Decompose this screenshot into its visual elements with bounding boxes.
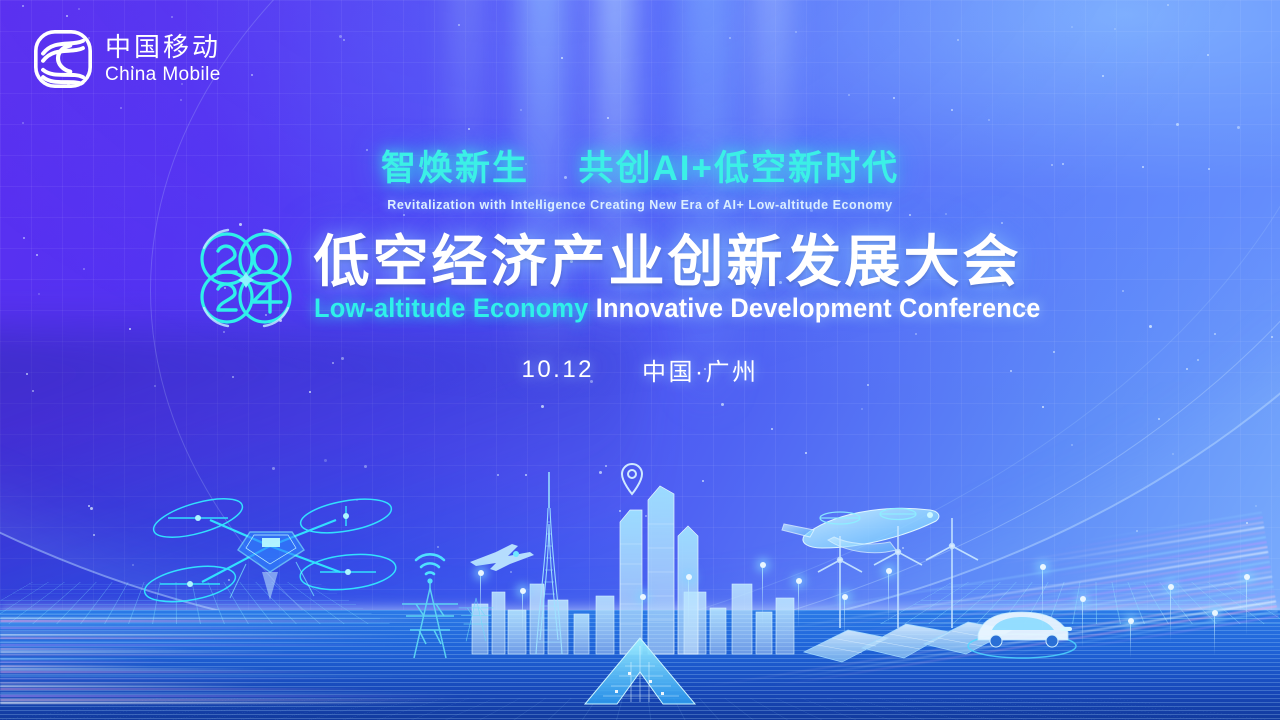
light-streak	[992, 521, 1264, 566]
star	[1172, 453, 1174, 455]
star	[1176, 123, 1179, 126]
light-streak	[843, 571, 1271, 641]
star	[702, 480, 704, 482]
star	[893, 97, 895, 99]
left-light-streaks	[0, 613, 560, 708]
light-streak	[1018, 526, 1265, 567]
node-stem	[762, 568, 763, 626]
star	[795, 31, 797, 33]
node-stem	[1214, 616, 1215, 656]
airplane-icon	[466, 540, 536, 574]
star	[458, 24, 460, 26]
star	[1071, 26, 1073, 28]
power-pylon-group	[388, 530, 518, 660]
star	[729, 37, 731, 39]
light-streak	[766, 605, 1277, 688]
light-streak	[0, 637, 402, 639]
event-meta: 10.12 中国·广州	[0, 352, 1280, 387]
light-streak	[0, 699, 481, 701]
glow-node	[1080, 596, 1086, 602]
light-streak	[1043, 541, 1267, 578]
node-stem	[1170, 590, 1171, 642]
star	[22, 122, 24, 124]
glow-node	[1040, 564, 1046, 570]
star	[645, 515, 647, 517]
conference-poster: 中国移动 China Mobile 智焕新生 共创AI+低空新时代 Revita…	[0, 0, 1280, 720]
light-streak	[0, 648, 197, 650]
star	[861, 408, 863, 410]
light-streak	[0, 651, 294, 653]
star	[1158, 418, 1160, 420]
light-streak	[0, 627, 397, 629]
light-streak	[0, 631, 369, 633]
star	[66, 15, 68, 17]
star	[951, 109, 953, 111]
glow-node	[640, 594, 646, 600]
node-stem	[1082, 602, 1083, 648]
light-streak	[1073, 590, 1275, 624]
ground-plane	[0, 610, 1280, 720]
star	[1237, 126, 1240, 129]
star	[1246, 522, 1248, 524]
star	[343, 39, 345, 41]
tagline-en: Revitalization with Intelligence Creatin…	[0, 198, 1280, 212]
light-streak	[0, 620, 443, 622]
glow-node	[1244, 574, 1250, 580]
star	[1136, 530, 1138, 532]
left-terrain-mesh	[0, 582, 390, 624]
ground-scanlines	[0, 610, 1280, 720]
ground-perspective-mesh	[0, 698, 1280, 720]
node-stem	[844, 600, 845, 638]
star	[605, 465, 607, 467]
light-streak	[889, 581, 1274, 644]
light-streak	[0, 617, 470, 619]
brand-logo: 中国移动 China Mobile	[34, 30, 221, 88]
glow-node	[686, 574, 692, 580]
light-streak	[991, 576, 1273, 623]
star	[561, 57, 563, 59]
star	[132, 564, 134, 566]
node-stem	[1130, 624, 1131, 658]
star	[88, 505, 90, 507]
node-stem	[480, 576, 481, 628]
light-streak	[0, 634, 415, 636]
star	[324, 459, 327, 462]
subtitle-highlight: Low-altitude Economy	[314, 293, 588, 323]
star	[520, 109, 522, 111]
star	[251, 74, 253, 76]
light-streak	[0, 675, 478, 677]
wind-turbine-icon	[874, 526, 922, 628]
city-skyline	[470, 464, 800, 654]
wind-turbine-icon	[818, 536, 862, 628]
light-streak	[0, 624, 308, 626]
light-streak	[0, 678, 413, 680]
light-streak	[0, 702, 453, 704]
star	[180, 99, 182, 101]
brand-name-en: China Mobile	[105, 65, 221, 84]
light-streak	[1007, 531, 1266, 574]
star	[32, 390, 34, 392]
star	[1114, 28, 1116, 30]
glow-node	[1128, 618, 1134, 624]
brand-name-cn: 中国移动	[105, 34, 221, 60]
solar-panel-icon	[862, 624, 950, 658]
light-streak	[730, 536, 1266, 623]
wind-turbine-icon	[926, 518, 978, 628]
power-pylon-icon	[402, 580, 458, 658]
wind-turbine-group	[812, 526, 992, 636]
node-stem	[688, 580, 689, 628]
power-pylon-icon	[459, 598, 494, 641]
light-streak	[0, 685, 254, 687]
horizon-glow	[0, 602, 1280, 642]
glow-node	[478, 570, 484, 576]
star	[988, 119, 990, 121]
light-streak	[964, 610, 1278, 662]
star	[510, 571, 512, 573]
light-streak	[1072, 546, 1268, 579]
star	[171, 16, 173, 18]
canton-tower-icon	[536, 472, 562, 654]
light-streak	[1065, 511, 1262, 544]
solar-panel-group	[800, 594, 1020, 664]
star	[805, 452, 807, 454]
light-streak	[1037, 615, 1279, 655]
smart-car-icon	[960, 590, 1090, 660]
glow-node	[1212, 610, 1218, 616]
background-shade	[0, 330, 640, 710]
star	[721, 403, 724, 406]
light-streak	[771, 600, 1276, 682]
node-stem	[522, 594, 523, 634]
tagline-cn-right: 共创AI+低空新时代	[579, 149, 899, 188]
subtitle-rest: Innovative Development Conference	[595, 293, 1040, 323]
quadcopter-drone-icon	[150, 480, 400, 630]
star	[902, 547, 904, 549]
evtol-aircraft-icon	[770, 490, 970, 580]
star	[22, 5, 24, 7]
event-date: 10.12	[521, 356, 594, 384]
light-streak	[985, 561, 1270, 608]
star	[1255, 505, 1257, 507]
title-row: 低空经济产业创新发展大会 Low-altitude Economy Innova…	[0, 224, 1280, 330]
node-stem	[642, 600, 643, 636]
light-streak	[0, 682, 293, 684]
solar-panel-icon	[804, 630, 888, 662]
light-streak	[0, 661, 195, 663]
star	[771, 428, 773, 430]
headline-block: 智焕新生 共创AI+低空新时代 Revitalization with Inte…	[0, 140, 1280, 387]
star	[1207, 54, 1209, 56]
light-streak	[0, 654, 482, 656]
light-streak	[835, 566, 1271, 637]
ai-circuit-road-icon	[545, 632, 735, 712]
right-light-streaks	[649, 505, 1280, 720]
node-stem	[888, 574, 889, 624]
star	[78, 8, 80, 10]
star	[228, 579, 230, 581]
star	[364, 465, 367, 468]
year-2024-rotor-icon	[194, 226, 298, 330]
star	[437, 546, 439, 548]
star	[339, 35, 342, 38]
star	[120, 107, 122, 109]
star	[1042, 406, 1044, 408]
light-streak	[0, 665, 154, 667]
star	[848, 94, 850, 96]
light-streak	[1047, 516, 1263, 552]
star	[468, 128, 470, 130]
node-stem	[798, 584, 799, 628]
light-streak	[685, 595, 1276, 690]
glow-node	[520, 588, 526, 594]
event-location: 中国·广州	[642, 352, 759, 387]
page-title: 低空经济产业创新发展大会	[314, 232, 1022, 291]
light-streak	[0, 644, 410, 646]
node-stem	[1042, 570, 1043, 630]
star	[957, 39, 959, 41]
star	[607, 117, 609, 119]
light-streak	[0, 671, 353, 673]
light-streak	[0, 658, 156, 660]
china-mobile-logo-icon	[34, 30, 92, 88]
star	[1167, 4, 1169, 6]
map-pin-icon	[622, 464, 642, 494]
solar-panel-icon	[924, 622, 1012, 654]
wifi-signal-icon	[416, 554, 444, 583]
page-subtitle: Low-altitude Economy Innovative Developm…	[314, 294, 1041, 322]
right-terrain-mesh	[880, 582, 1280, 624]
glow-node	[886, 568, 892, 574]
light-streak	[0, 668, 273, 670]
star	[541, 405, 544, 408]
glow-node	[796, 578, 802, 584]
node-stem	[1246, 580, 1247, 636]
star	[1071, 444, 1073, 446]
glow-node	[760, 562, 766, 568]
star	[309, 391, 311, 393]
light-streak	[0, 692, 487, 694]
star	[93, 534, 95, 536]
star	[619, 510, 621, 512]
tagline-cn: 智焕新生 共创AI+低空新时代	[0, 140, 1280, 191]
star	[599, 471, 602, 474]
glow-node	[1168, 584, 1174, 590]
star	[90, 507, 93, 510]
light-streak	[0, 688, 387, 690]
light-streak	[1109, 585, 1274, 613]
light-streak	[0, 695, 468, 697]
glow-node	[842, 594, 848, 600]
star	[525, 474, 527, 476]
light-streak	[745, 556, 1269, 641]
star	[1102, 75, 1104, 77]
illustration-scene	[0, 440, 1280, 720]
star	[356, 499, 358, 501]
star	[497, 474, 499, 476]
tagline-cn-left: 智焕新生	[381, 149, 529, 188]
light-streak	[0, 641, 368, 643]
light-streak	[754, 551, 1269, 634]
star	[272, 467, 275, 470]
